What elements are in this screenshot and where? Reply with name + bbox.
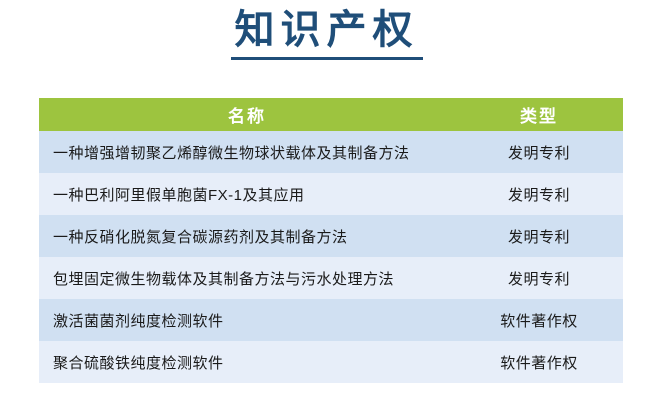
table-row: 激活菌菌剂纯度检测软件 软件著作权: [39, 299, 623, 341]
cell-type: 软件著作权: [455, 341, 623, 383]
column-header-type: 类型: [455, 98, 623, 131]
page-title-container: 知识产权: [0, 6, 653, 60]
table-row: 包埋固定微生物载体及其制备方法与污水处理方法 发明专利: [39, 257, 623, 299]
table-header: 名称 类型: [39, 98, 623, 131]
intellectual-property-table-container: 名称 类型 一种增强增韧聚乙烯醇微生物球状载体及其制备方法 发明专利 一种巴利阿…: [39, 98, 623, 383]
cell-type: 发明专利: [455, 131, 623, 173]
column-header-name: 名称: [39, 98, 455, 131]
cell-name: 一种增强增韧聚乙烯醇微生物球状载体及其制备方法: [39, 131, 455, 173]
table-body: 一种增强增韧聚乙烯醇微生物球状载体及其制备方法 发明专利 一种巴利阿里假单胞菌F…: [39, 131, 623, 383]
table-row: 一种反硝化脱氮复合碳源药剂及其制备方法 发明专利: [39, 215, 623, 257]
page-title: 知识产权: [231, 6, 423, 60]
intellectual-property-table: 名称 类型 一种增强增韧聚乙烯醇微生物球状载体及其制备方法 发明专利 一种巴利阿…: [39, 98, 623, 383]
cell-name: 一种巴利阿里假单胞菌FX-1及其应用: [39, 173, 455, 215]
cell-type: 软件著作权: [455, 299, 623, 341]
cell-name: 激活菌菌剂纯度检测软件: [39, 299, 455, 341]
table-row: 一种增强增韧聚乙烯醇微生物球状载体及其制备方法 发明专利: [39, 131, 623, 173]
table-header-row: 名称 类型: [39, 98, 623, 131]
cell-name: 一种反硝化脱氮复合碳源药剂及其制备方法: [39, 215, 455, 257]
cell-type: 发明专利: [455, 215, 623, 257]
table-row: 聚合硫酸铁纯度检测软件 软件著作权: [39, 341, 623, 383]
cell-type: 发明专利: [455, 173, 623, 215]
table-row: 一种巴利阿里假单胞菌FX-1及其应用 发明专利: [39, 173, 623, 215]
cell-type: 发明专利: [455, 257, 623, 299]
cell-name: 聚合硫酸铁纯度检测软件: [39, 341, 455, 383]
cell-name: 包埋固定微生物载体及其制备方法与污水处理方法: [39, 257, 455, 299]
